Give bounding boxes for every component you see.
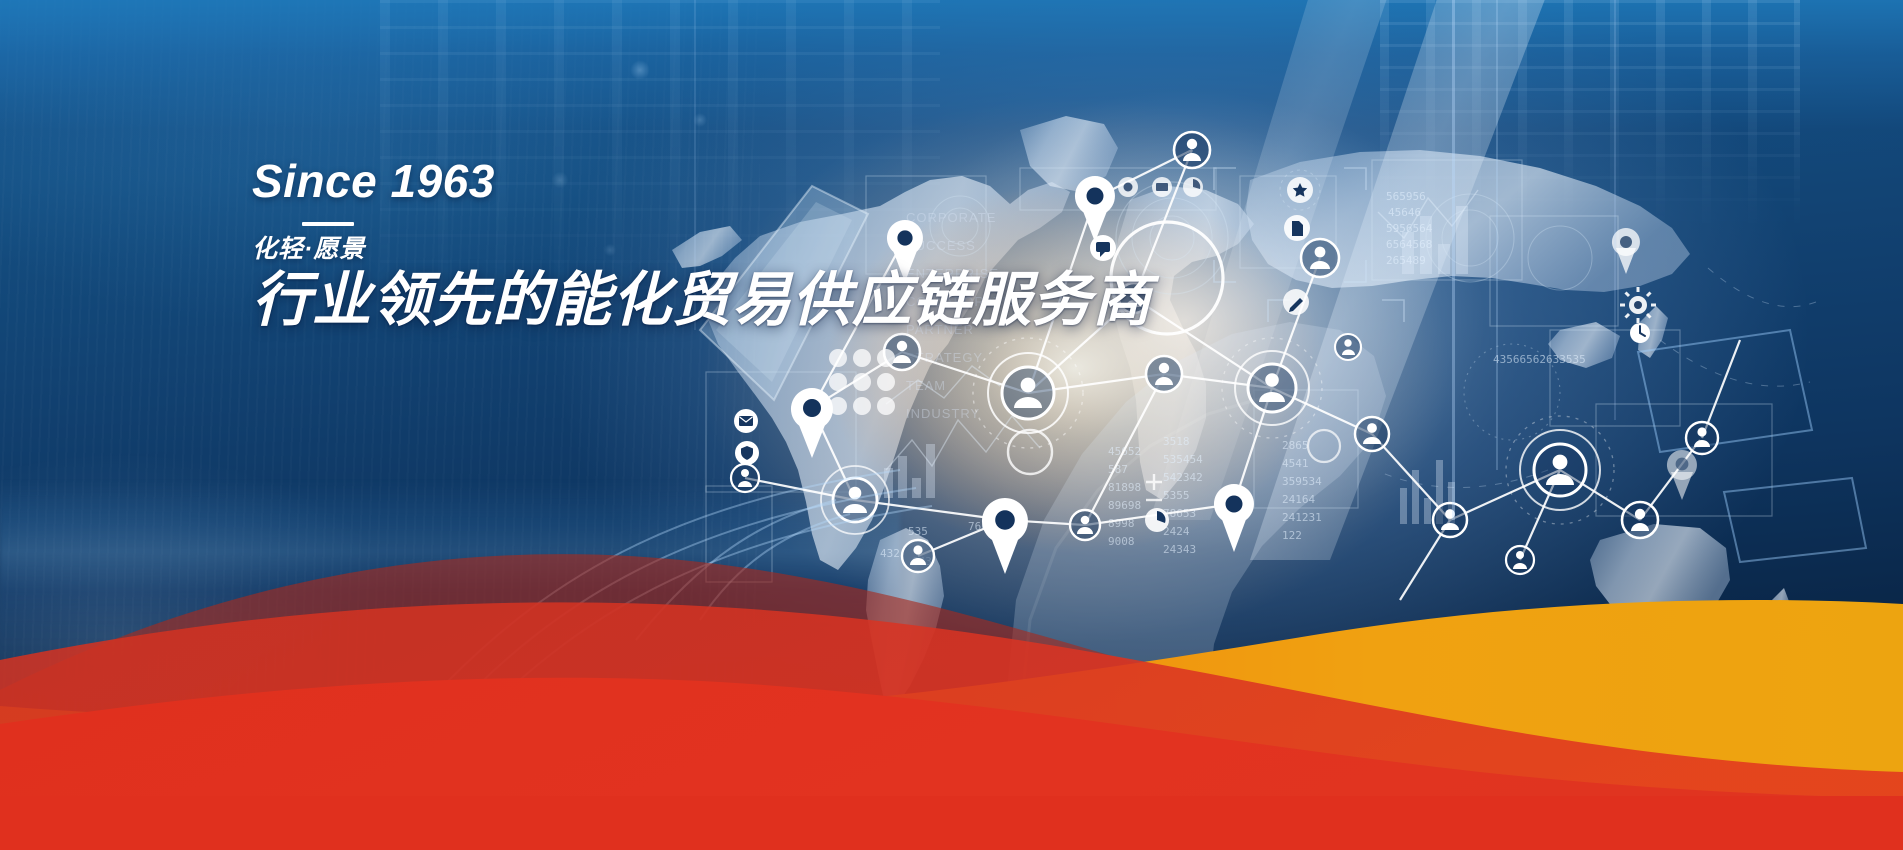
svg-text:432: 432 xyxy=(880,547,900,560)
document-icon xyxy=(1284,215,1310,241)
clock-icon xyxy=(1630,323,1650,343)
svg-text:45646: 45646 xyxy=(1388,206,1421,219)
svg-text:122: 122 xyxy=(1282,529,1302,542)
svg-text:535: 535 xyxy=(908,525,928,538)
pie-icon xyxy=(1145,508,1169,532)
eyebrow-since: Since 1963 xyxy=(252,158,1072,204)
mail-icon xyxy=(734,409,758,433)
pen-icon xyxy=(1283,289,1309,315)
star-icon xyxy=(1287,177,1313,203)
svg-text:INDUSTRY: INDUSTRY xyxy=(906,406,980,421)
page-title: 行业领先的能化贸易供应链服务商 xyxy=(252,269,1072,333)
subtitle-vision: 化轻·愿景 xyxy=(252,237,1072,262)
toolbar-icons-row xyxy=(1118,177,1203,197)
title-divider-rule xyxy=(302,222,354,226)
phone-keypad xyxy=(829,349,895,415)
svg-text:565956: 565956 xyxy=(1386,190,1426,203)
chat-icon xyxy=(1090,235,1116,261)
svg-text:43566562633535: 43566562633535 xyxy=(1493,353,1586,366)
hero-banner: 565956 45646 5956564 6564568 265489 4356… xyxy=(0,0,1903,850)
svg-text:TEAM: TEAM xyxy=(906,378,946,393)
svg-text:6564568: 6564568 xyxy=(1386,238,1432,251)
svg-text:265489: 265489 xyxy=(1386,254,1426,267)
svg-text:5956564: 5956564 xyxy=(1386,222,1433,235)
shield-icon xyxy=(735,441,759,465)
hero-text-block: Since 1963 化轻·愿景 行业领先的能化贸易供应链服务商 xyxy=(252,158,1072,333)
world-map-network-graphic: 565956 45646 5956564 6564568 265489 4356… xyxy=(0,0,1903,850)
